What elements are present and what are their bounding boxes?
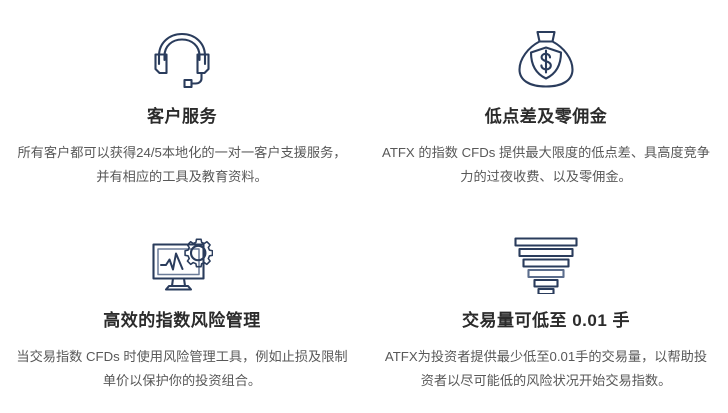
feature-title: 低点差及零佣金 — [485, 106, 608, 128]
headset-icon — [149, 26, 215, 92]
feature-title: 交易量可低至 0.01 手 — [462, 310, 630, 332]
money-bag-shield-dollar-icon — [513, 26, 579, 92]
feature-body: ATFX为投资者提供最少低至0.01手的交易量，以帮助投资者以尽可能低的风险状况… — [380, 345, 712, 393]
feature-body: 当交易指数 CFDs 时使用风险管理工具，例如止损及限制单价以保护你的投资组合。 — [14, 345, 350, 393]
feature-card-risk-management: 高效的指数风险管理 当交易指数 CFDs 时使用风险管理工具，例如止损及限制单价… — [0, 206, 364, 413]
feature-card-lot-size: 交易量可低至 0.01 手 ATFX为投资者提供最少低至0.01手的交易量，以帮… — [364, 206, 728, 413]
feature-title: 客户服务 — [147, 106, 217, 128]
feature-title: 高效的指数风险管理 — [103, 310, 261, 332]
monitor-chart-gear-icon — [149, 232, 215, 298]
feature-body: 所有客户都可以获得24/5本地化的一对一客户支援服务，并有相应的工具及教育资料。 — [14, 141, 350, 189]
feature-card-customer-service: 客户服务 所有客户都可以获得24/5本地化的一对一客户支援服务，并有相应的工具及… — [0, 0, 364, 206]
features-grid: 客户服务 所有客户都可以获得24/5本地化的一对一客户支援服务，并有相应的工具及… — [0, 0, 728, 413]
feature-card-low-spread: 低点差及零佣金 ATFX 的指数 CFDs 提供最大限度的低点差、具高度竞争力的… — [364, 0, 728, 206]
funnel-bars-icon — [513, 232, 579, 298]
feature-body: ATFX 的指数 CFDs 提供最大限度的低点差、具高度竞争力的过夜收费、以及零… — [379, 141, 713, 189]
